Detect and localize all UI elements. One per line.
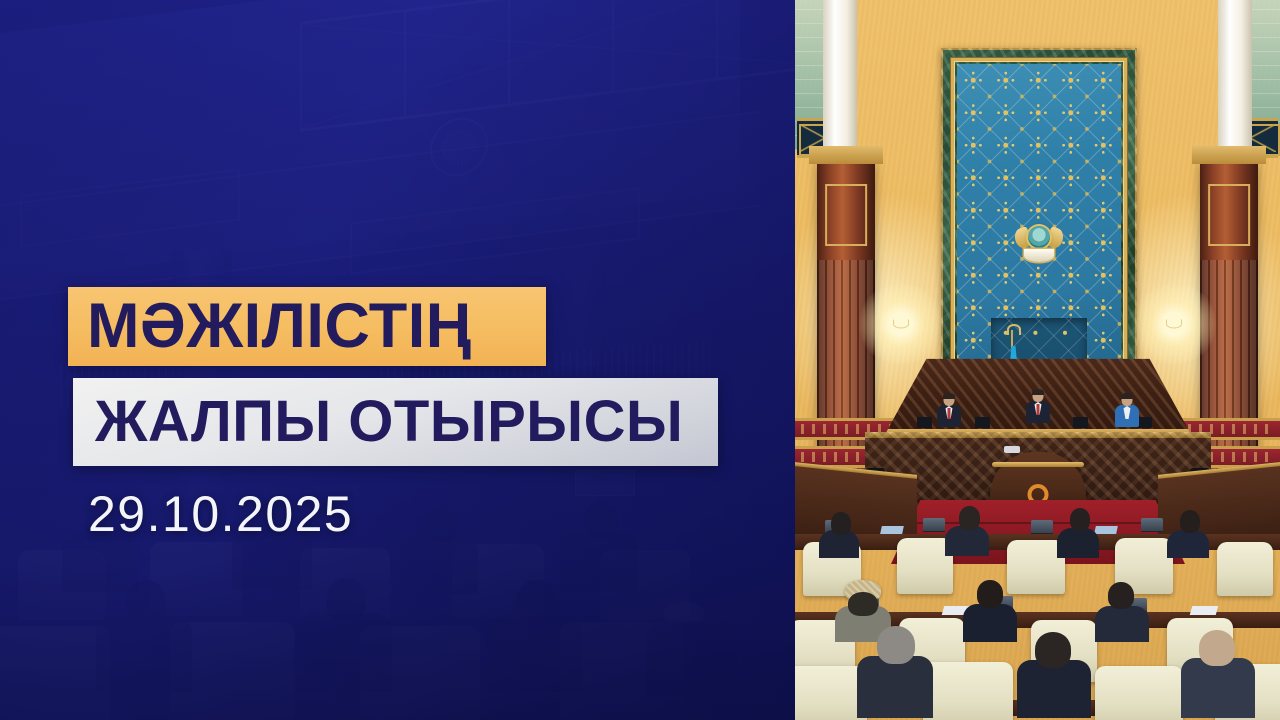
emblem-shanyrak (1028, 226, 1050, 248)
deputy-head (831, 512, 851, 535)
wall-sconce-left (893, 318, 909, 330)
pilaster-capital-left (809, 146, 883, 164)
deputy-shoulders (945, 526, 989, 556)
deputy-shoulders (1017, 660, 1091, 718)
presidium-monitor (1073, 417, 1088, 428)
deputy-head (848, 592, 878, 616)
deputies-audience (795, 460, 1280, 720)
title-line-2: ЖАЛПЫ ОТЫРЫСЫ (95, 393, 683, 451)
official-tie (1037, 404, 1040, 415)
title-banner-secondary: ЖАЛПЫ ОТЫРЫСЫ (73, 378, 718, 466)
flag-pole (1011, 330, 1013, 348)
deputy-head (977, 580, 1003, 608)
title-card: МӘЖІЛІСТІҢ ЖАЛПЫ ОТЫРЫСЫ 29.10.2025 (0, 0, 1280, 720)
session-date: 29.10.2025 (88, 485, 353, 543)
deputy-shoulders (963, 604, 1017, 642)
deputy-head (1199, 630, 1235, 666)
deputy-seat (1095, 666, 1183, 720)
document-paper (1094, 526, 1118, 534)
document-paper (1190, 606, 1219, 615)
laptop-icon (923, 518, 945, 531)
rostrum-microphone (1004, 446, 1020, 453)
deputy-head (1180, 510, 1200, 533)
deputy-head (1108, 582, 1134, 609)
presidium-official (937, 394, 961, 426)
deputy-shoulders (1095, 606, 1149, 642)
pilaster-plaque-left (825, 184, 867, 246)
official-hair (1032, 389, 1044, 395)
presidium-monitor (975, 417, 990, 428)
deputy-shoulders (1167, 530, 1209, 558)
wall-sconce-right (1166, 318, 1182, 330)
deputy-head (959, 506, 980, 530)
sconce-body-left (893, 320, 909, 329)
emblem-base (1024, 249, 1054, 262)
presidium-monitor (917, 417, 932, 428)
deputy-seat (923, 662, 1013, 720)
deputy-shoulders (857, 656, 933, 718)
parliament-hall-photo (795, 0, 1280, 720)
document-paper (880, 526, 904, 534)
deputy-head (1035, 632, 1071, 668)
deputy-head-grey-hair (877, 626, 915, 664)
deputy-shoulders (1181, 658, 1255, 718)
deputy-shoulders (1057, 528, 1099, 558)
presidium-monitor (1137, 417, 1152, 428)
official-hair (943, 393, 955, 399)
laptop-icon (1031, 520, 1053, 533)
deputy-seat (1217, 542, 1273, 596)
laptop-icon (1141, 518, 1163, 531)
kazakhstan-state-emblem-icon (1016, 216, 1062, 262)
pilaster-capital-right (1192, 146, 1266, 164)
official-hair (1121, 393, 1133, 399)
presidium-desk (883, 352, 1193, 438)
pilaster-plaque-right (1208, 184, 1250, 246)
official-tie (948, 408, 951, 419)
presidium-official (1115, 394, 1139, 426)
sconce-body-right (1166, 320, 1182, 329)
deputy-head (1070, 508, 1090, 531)
presidium-chairperson (1026, 390, 1050, 422)
title-banner-primary: МӘЖІЛІСТІҢ (68, 287, 546, 366)
title-line-1: МӘЖІЛІСТІҢ (87, 295, 472, 358)
